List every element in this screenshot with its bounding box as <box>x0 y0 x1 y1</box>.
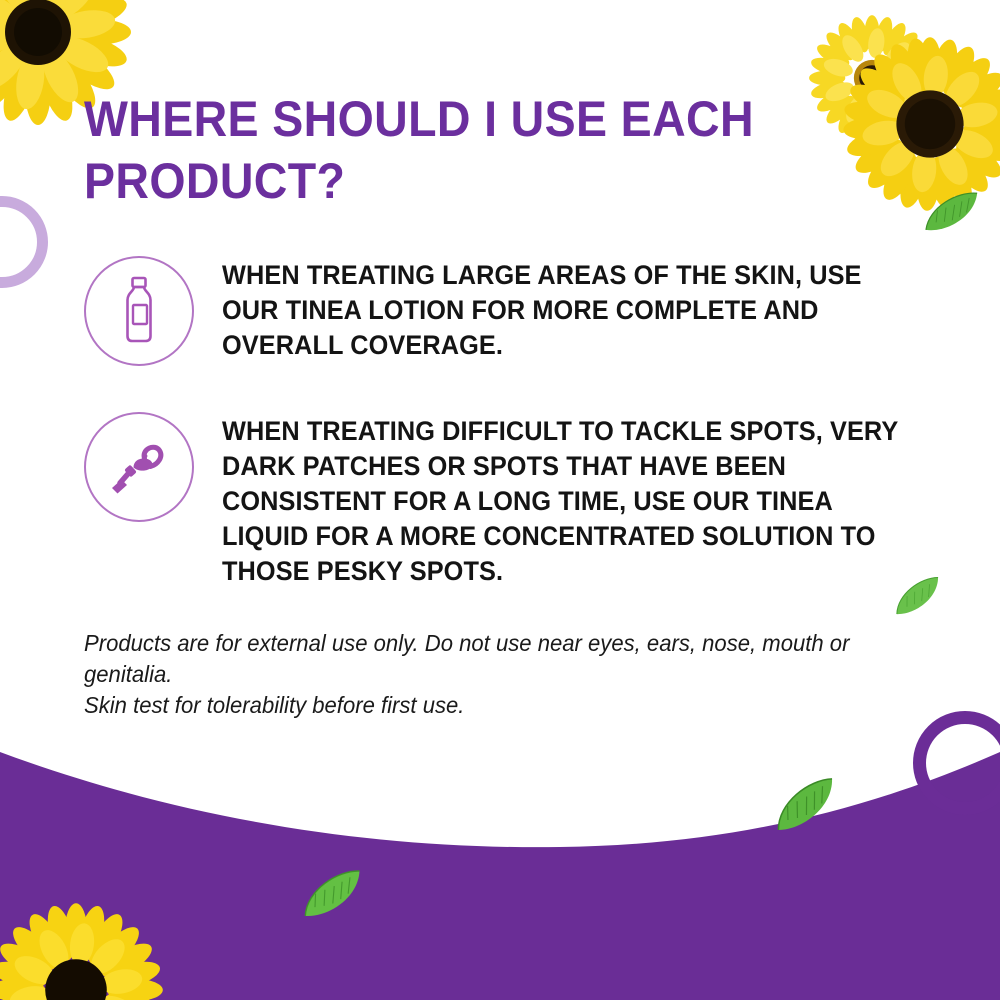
disclaimer-line-1: Products are for external use only. Do n… <box>84 628 881 690</box>
leaf-right-upper <box>916 187 987 239</box>
product-row-lotion-text: WHEN TREATING LARGE AREAS OF THE SKIN, U… <box>222 256 914 363</box>
disclaimer-block: Products are for external use only. Do n… <box>84 628 881 721</box>
product-row-liquid: WHEN TREATING DIFFICULT TO TACKLE SPOTS,… <box>84 412 957 589</box>
product-row-lotion: WHEN TREATING LARGE AREAS OF THE SKIN, U… <box>84 256 947 366</box>
applicator-brush-icon <box>84 412 194 522</box>
sunflower-top-right-small <box>808 14 936 142</box>
infographic-canvas: WHERE SHOULD I USE EACH PRODUCT? WHEN TR… <box>0 0 1000 1000</box>
lotion-bottle-icon <box>84 256 194 366</box>
leaf-wave-right <box>763 771 849 840</box>
disclaimer-line-2: Skin test for tolerability before first … <box>84 690 881 721</box>
ring-left-edge <box>0 196 48 288</box>
leaf-band-center <box>292 864 375 927</box>
sunflower-top-right-large <box>846 40 1000 208</box>
ring-right-edge <box>913 711 1000 815</box>
sunflower-bottom-left <box>0 906 160 1000</box>
page-title: WHERE SHOULD I USE EACH PRODUCT? <box>84 88 772 212</box>
product-row-liquid-text: WHEN TREATING DIFFICULT TO TACKLE SPOTS,… <box>222 412 924 589</box>
